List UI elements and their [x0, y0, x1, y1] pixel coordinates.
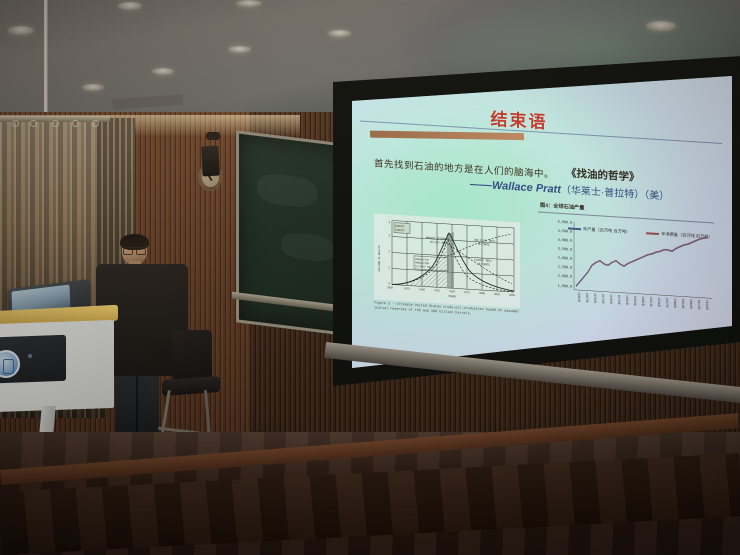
stage-chair[interactable] [158, 330, 224, 442]
quote-attribution-cn: （华莱士·普拉特）（美） [561, 185, 669, 203]
glasses-icon [123, 247, 146, 253]
ceiling-downlight [328, 30, 351, 37]
svg-text:1997年: 1997年 [665, 297, 670, 308]
svg-text:ULTIMATE: ULTIMATE [478, 262, 491, 267]
svg-text:1965年: 1965年 [577, 292, 582, 303]
svg-text:2,500.0: 2,500.0 [558, 265, 572, 270]
svg-text:1973年: 1973年 [601, 293, 606, 304]
chair-backrest [172, 330, 212, 382]
svg-text:1925: 1925 [434, 289, 440, 292]
lectern[interactable] [0, 292, 118, 452]
chair-seat [162, 376, 220, 396]
curtain-grommet [72, 120, 79, 127]
ceiling-downlight [118, 2, 142, 10]
svg-text:MILLIONS OF BBLS/YR: MILLIONS OF BBLS/YR [378, 245, 381, 272]
curtain-grommet [12, 120, 19, 127]
svg-text:YEARS: YEARS [448, 294, 456, 299]
svg-text:2,000.0: 2,000.0 [558, 274, 572, 279]
wall-speaker [201, 146, 220, 177]
svg-text:2004年: 2004年 [681, 298, 686, 309]
svg-text:1900: 1900 [419, 288, 425, 291]
ceiling-downlight [646, 21, 676, 31]
svg-text:2012年: 2012年 [697, 299, 702, 310]
svg-text:150X10⁹: 150X10⁹ [395, 229, 406, 233]
hubbert-curve-figure: 200X10⁹ 150X10⁹ CUMULATIVE PRODUCTION 52… [374, 213, 520, 308]
svg-text:2008年: 2008年 [689, 299, 694, 310]
quote-attribution-en: ——Wallace Pratt [470, 178, 561, 196]
svg-text:3,500.0: 3,500.0 [558, 247, 572, 252]
svg-text:1970年: 1970年 [593, 293, 598, 304]
svg-text:1976年: 1976年 [609, 294, 614, 305]
svg-text:5,000.0: 5,000.0 [558, 220, 572, 225]
oil-production-svg: 5,000.0 4,500.0 4,000.0 3,500.0 3,000.0 … [538, 212, 714, 333]
svg-text:1967年: 1967年 [585, 292, 590, 303]
oil-production-chart-title: 图4：全球石油产量 [540, 202, 584, 212]
svg-text:1991年: 1991年 [649, 296, 654, 307]
chair-leg [160, 390, 170, 438]
svg-text:1,000.0: 1,000.0 [558, 284, 572, 289]
slide-quote-text: 首先找到石油的地方是在人们的脑海中。 [374, 155, 554, 180]
wall-camera-icon [206, 132, 220, 140]
svg-text:2050: 2050 [509, 294, 515, 297]
svg-text:1982年: 1982年 [625, 295, 630, 306]
svg-text:4,500.0: 4,500.0 [558, 229, 572, 234]
svg-text:1988年: 1988年 [641, 296, 646, 307]
svg-text:1950: 1950 [449, 290, 455, 293]
lectern-knob[interactable] [28, 354, 32, 358]
curtain-grommet [52, 120, 59, 127]
chalk-smudge [257, 172, 317, 209]
svg-text:3,000.0: 3,000.0 [558, 256, 572, 261]
presenter-leg-split [136, 366, 138, 442]
ceiling-downlight [8, 26, 34, 35]
ceiling-downlight [228, 46, 251, 53]
svg-text:2000: 2000 [479, 292, 485, 295]
svg-text:1985年: 1985年 [633, 295, 638, 306]
svg-text:4,000.0: 4,000.0 [558, 238, 572, 243]
svg-text:2018年: 2018年 [705, 300, 710, 311]
chalk-smudge [281, 231, 335, 264]
ceiling-downlight [82, 84, 104, 91]
svg-text:ULTIMATE: ULTIMATE [478, 242, 491, 247]
hubbert-curve-svg: 200X10⁹ 150X10⁹ CUMULATIVE PRODUCTION 52… [374, 213, 520, 308]
svg-text:1979年: 1979年 [617, 294, 622, 305]
presentation-slide: 结束语 首先找到石油的地方是在人们的脑海中。 ——Wallace Pratt（华… [352, 72, 730, 351]
oil-production-figure: 5,000.0 4,500.0 4,000.0 3,500.0 3,000.0 … [538, 212, 714, 333]
chair-leg [204, 390, 211, 438]
curtain-grommet [92, 120, 99, 127]
svg-text:1850: 1850 [387, 286, 393, 289]
slide-accent-bar [370, 131, 524, 141]
svg-text:1875: 1875 [404, 287, 410, 290]
svg-text:1975: 1975 [464, 291, 470, 294]
svg-text:2000年: 2000年 [673, 298, 678, 309]
ceiling-downlight [236, 0, 262, 7]
svg-text:2025: 2025 [494, 293, 500, 296]
lecture-hall-scene: 结束语 首先找到石油的地方是在人们的脑海中。 ——Wallace Pratt（华… [0, 0, 740, 555]
svg-text:1994年: 1994年 [657, 297, 662, 308]
curtain-grommet [30, 120, 37, 127]
ceiling-downlight [152, 68, 174, 75]
